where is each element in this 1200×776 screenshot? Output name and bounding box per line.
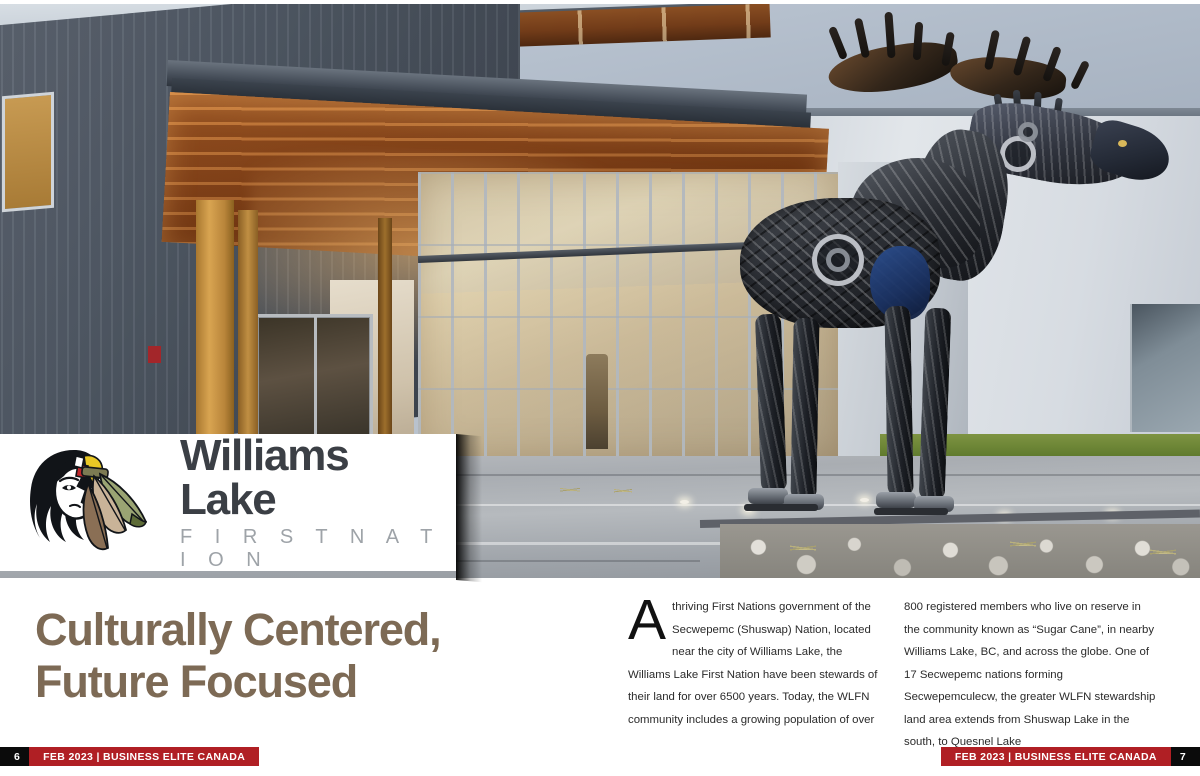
moose-leg-rear-far (755, 314, 787, 493)
issue-credit-right: FEB 2023 | BUSINESS ELITE CANADA (941, 747, 1171, 766)
column-two-text: 800 registered members who live on reser… (904, 596, 1156, 754)
moose-leg-rear-near (790, 318, 819, 500)
sculpture-base-plate (744, 504, 818, 511)
wood-column-secondary (238, 210, 258, 468)
logo-subtitle: F I R S T N A T I O N (180, 526, 454, 572)
moose-hoof (748, 488, 788, 504)
page-title: Culturally Centered,Future Focused (35, 604, 605, 708)
moose-leg-front-near (919, 308, 952, 501)
ground-uplight (680, 500, 689, 504)
moose-hoof (876, 492, 916, 508)
footer-left: 6 FEB 2023 | BUSINESS ELITE CANADA (0, 747, 259, 766)
page-number-left: 6 (0, 747, 29, 766)
woman-profile-with-three-feathers-icon (14, 444, 166, 562)
antler-tine (828, 26, 848, 61)
moose-leg-front-far (884, 306, 913, 496)
footer-right: FEB 2023 | BUSINESS ELITE CANADA 7 (941, 747, 1200, 766)
page-number-right: 7 (1171, 747, 1200, 766)
article-body: Athriving First Nations government of th… (628, 596, 1173, 726)
scrap-metal-moose-sculpture (700, 18, 1200, 538)
logo-title: Williams Lake (180, 434, 454, 522)
grass-tuft (1150, 536, 1176, 566)
williams-lake-first-nation-logo: Williams Lake F I R S T N A T I O N (14, 440, 454, 566)
antler-tine (854, 18, 870, 59)
logo-wordmark: Williams Lake F I R S T N A T I O N (180, 434, 454, 572)
exit-sign (148, 346, 161, 363)
interior-carving (586, 354, 608, 449)
sculpture-base-plate (874, 508, 948, 515)
wood-window-panel (2, 92, 54, 213)
wood-column-tertiary (378, 218, 392, 458)
article-column-one: Athriving First Nations government of th… (628, 596, 880, 726)
drop-cap: A (628, 597, 666, 644)
grass-tuft (614, 480, 632, 500)
grass-tuft (560, 478, 580, 500)
logo-panel-shadow (456, 434, 482, 582)
antler-tine (1070, 60, 1090, 90)
wood-column-primary (196, 200, 234, 470)
article-column-two: 800 registered members who live on reser… (904, 596, 1156, 726)
gear-ring-small (1018, 122, 1038, 142)
gear-ring-shoulder-inner (826, 248, 850, 272)
article-paragraph-one: Athriving First Nations government of th… (628, 596, 880, 731)
moose-eye (1118, 140, 1127, 147)
issue-credit-left: FEB 2023 | BUSINESS ELITE CANADA (29, 747, 259, 766)
